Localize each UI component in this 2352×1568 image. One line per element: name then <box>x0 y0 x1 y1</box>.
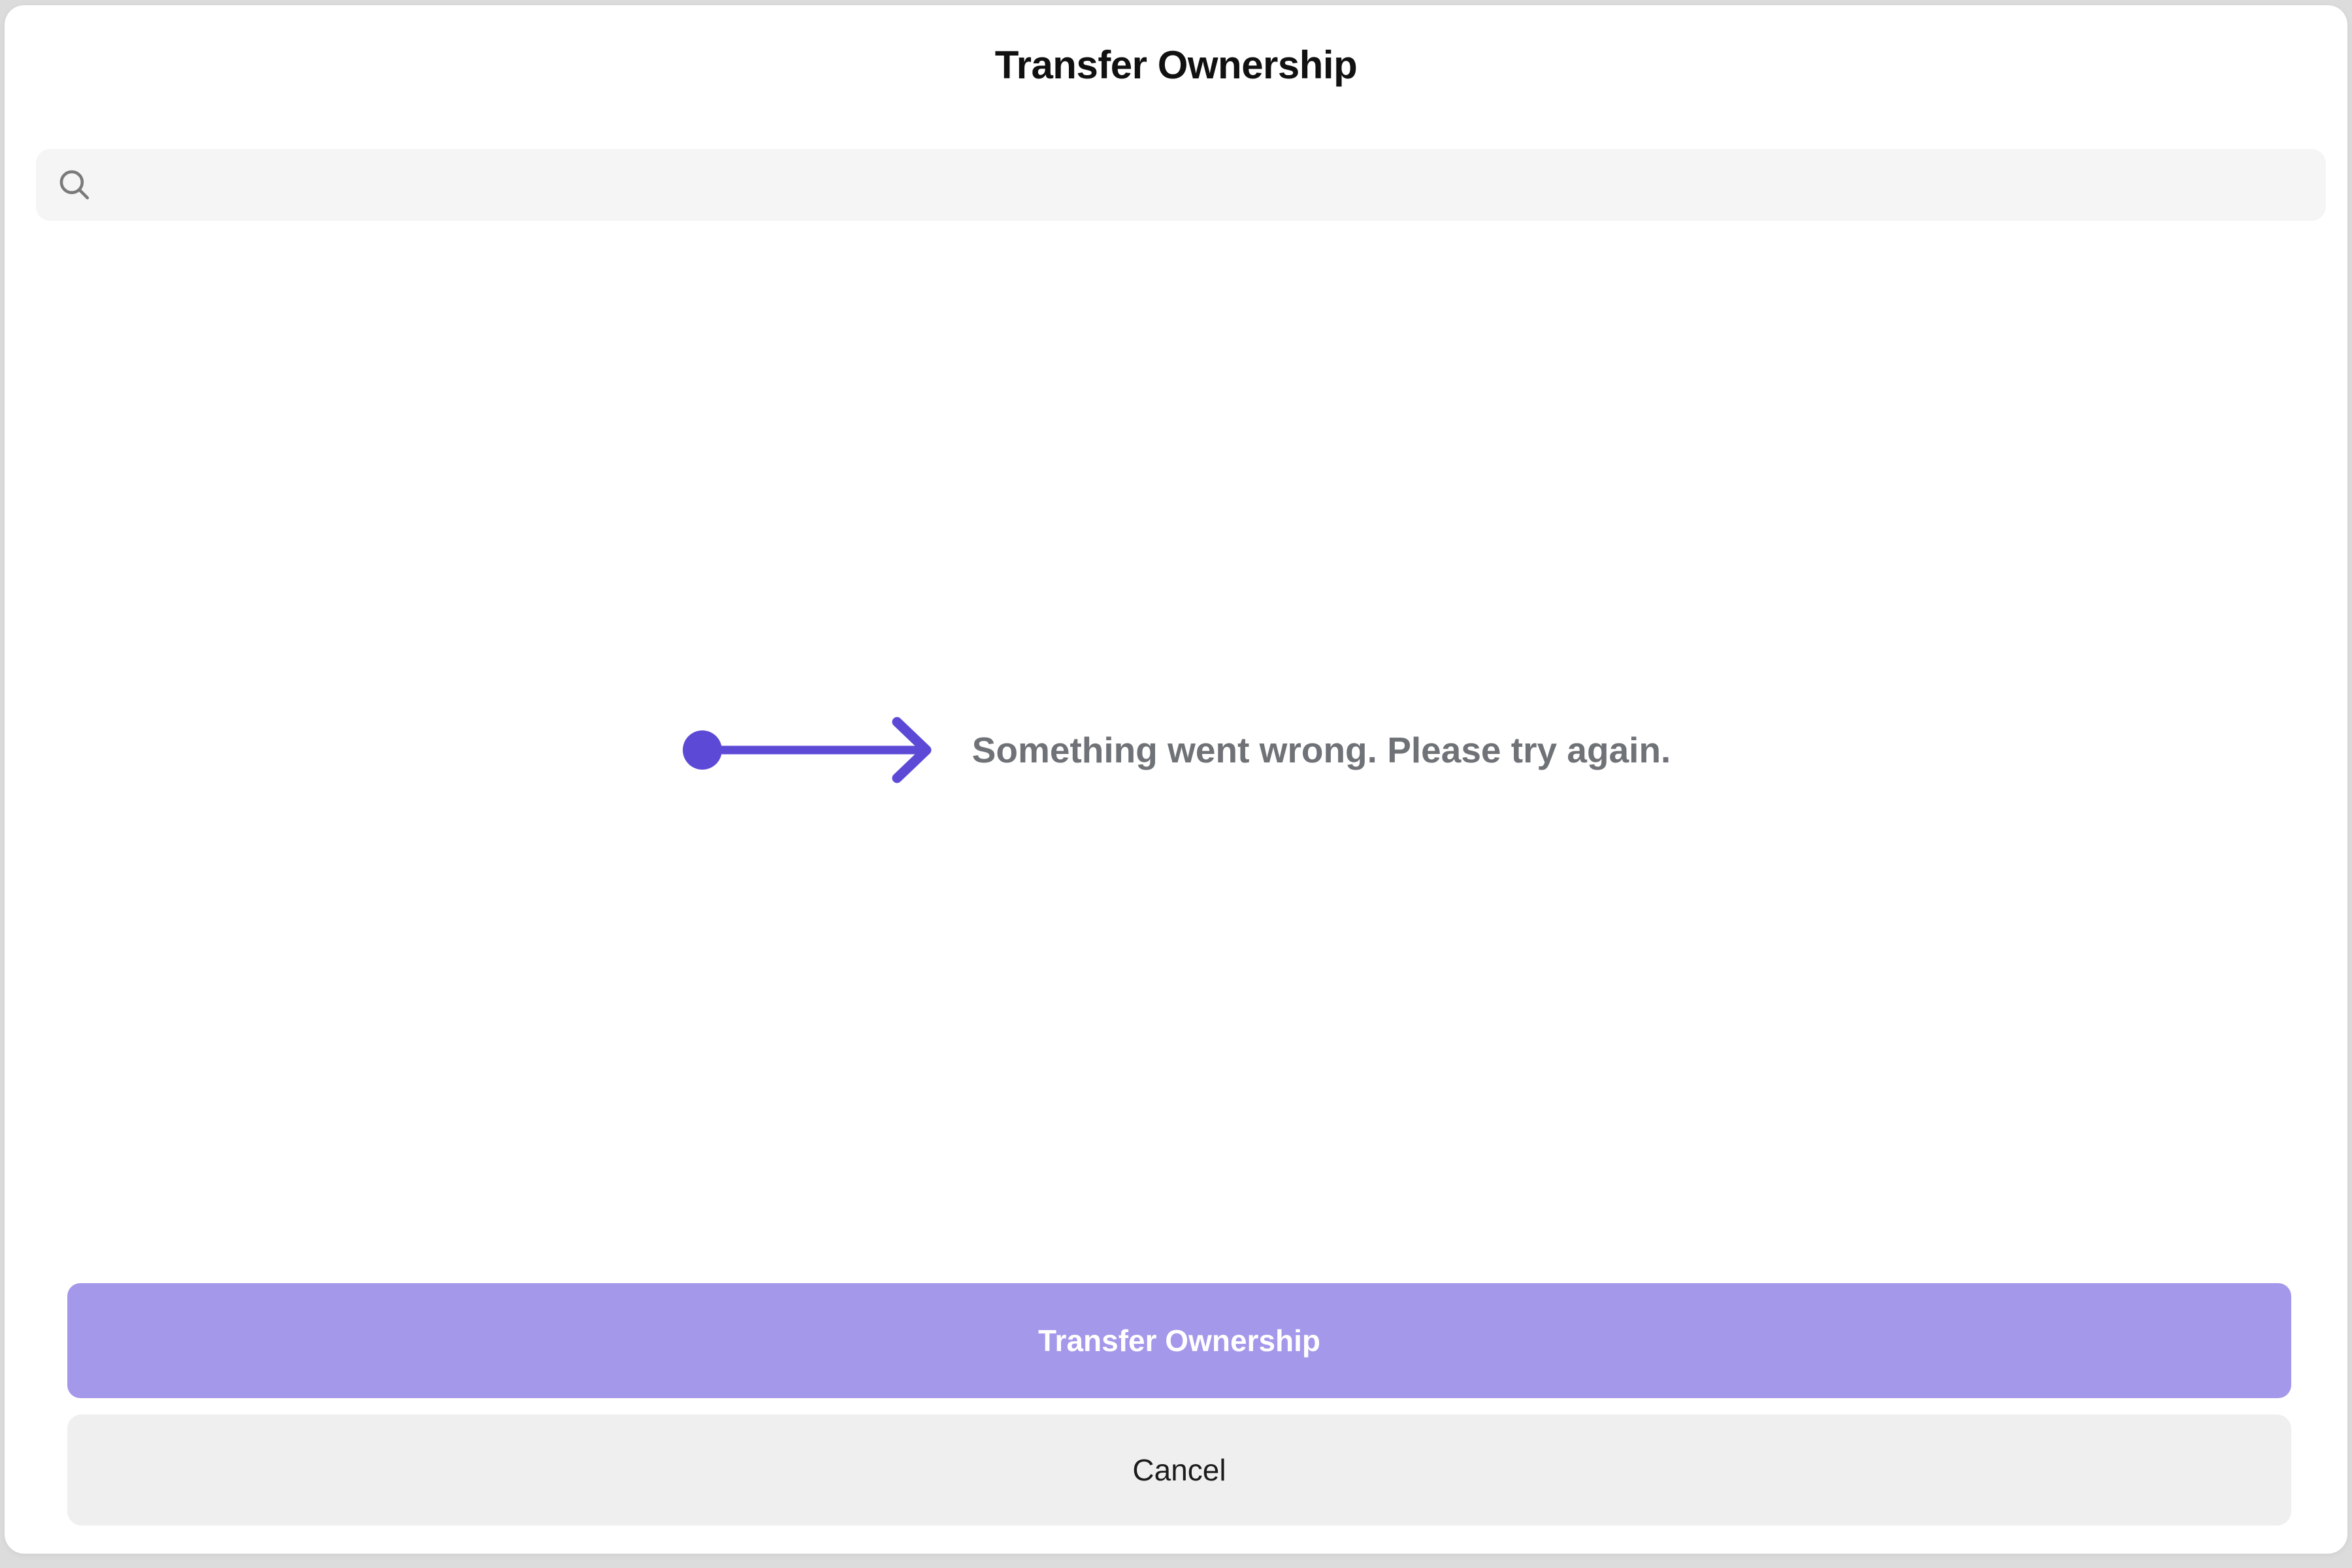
transfer-ownership-dialog: Transfer Ownership Something went wrong.… <box>5 5 2347 1554</box>
search-input[interactable] <box>93 149 2326 221</box>
error-message: Something went wrong. Please try again. <box>972 732 1671 768</box>
search-bar[interactable] <box>36 149 2326 221</box>
search-icon <box>56 166 93 204</box>
dialog-body: Something went wrong. Please try again. <box>5 231 2347 1269</box>
arrow-right-icon <box>681 714 943 786</box>
empty-state: Something went wrong. Please try again. <box>5 231 2347 1269</box>
page-title: Transfer Ownership <box>5 46 2347 85</box>
transfer-ownership-button[interactable]: Transfer Ownership <box>67 1283 2291 1398</box>
cancel-button[interactable]: Cancel <box>67 1414 2291 1526</box>
